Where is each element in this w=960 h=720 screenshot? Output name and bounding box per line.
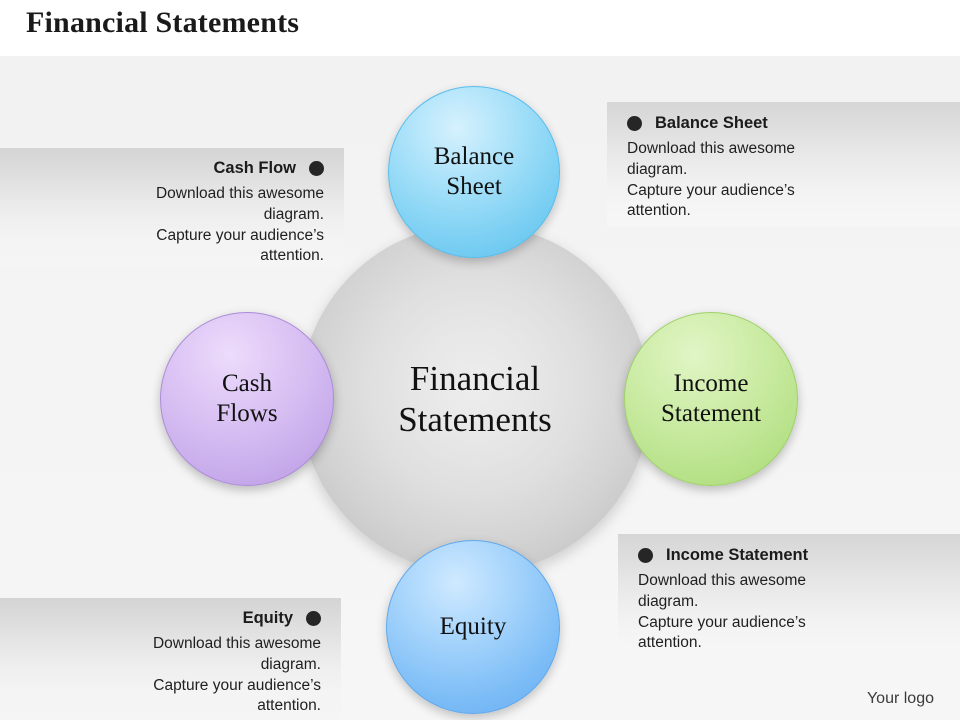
callout-line-4: attention. — [10, 246, 324, 267]
callout-heading-equity: Equity — [10, 609, 321, 627]
callout-title-equity: Equity — [243, 609, 293, 627]
callout-heading-cash-flow: Cash Flow — [10, 159, 324, 177]
callout-title-cash-flow: Cash Flow — [213, 159, 296, 177]
center-node-label-line-2: Statements — [398, 399, 552, 440]
callout-line-1: Download this awesome — [10, 184, 324, 205]
node-income-statement[interactable]: Income Statement — [624, 312, 798, 486]
bullet-dot-icon — [638, 548, 653, 563]
node-balance-sheet[interactable]: Balance Sheet — [388, 86, 560, 258]
callout-line-1: Download this awesome — [638, 571, 950, 592]
callout-line-3: Capture your audience’s — [638, 613, 950, 634]
callout-title-income-statement: Income Statement — [666, 546, 808, 564]
callout-line-2: diagram. — [627, 160, 950, 181]
bullet-dot-icon — [306, 611, 321, 626]
node-label-line-1: Income — [661, 369, 761, 400]
center-node-financial-statements[interactable]: Financial Statements — [300, 224, 650, 574]
callout-heading-income-statement: Income Statement — [638, 546, 950, 564]
node-label-income-statement: Income Statement — [661, 369, 761, 430]
callout-line-3: Capture your audience’s — [10, 226, 324, 247]
callout-line-2: diagram. — [10, 205, 324, 226]
callout-body-balance-sheet: Download this awesome diagram. Capture y… — [627, 139, 950, 222]
node-label-line-1: Equity — [440, 612, 507, 643]
page-title: Financial Statements — [26, 6, 299, 40]
callout-panel-cash-flow[interactable]: Cash Flow Download this awesome diagram.… — [0, 148, 344, 268]
node-cash-flows[interactable]: Cash Flows — [160, 312, 334, 486]
callout-body-equity: Download this awesome diagram. Capture y… — [10, 634, 321, 717]
node-label-line-1: Cash — [216, 369, 277, 400]
bullet-dot-icon — [309, 161, 324, 176]
callout-line-3: Capture your audience’s — [10, 676, 321, 697]
node-label-equity: Equity — [440, 612, 507, 643]
node-equity[interactable]: Equity — [386, 540, 560, 714]
node-label-line-2: Flows — [216, 399, 277, 430]
node-label-line-2: Statement — [661, 399, 761, 430]
logo-placeholder: Your logo — [867, 690, 934, 708]
center-node-label: Financial Statements — [398, 358, 552, 441]
callout-body-cash-flow: Download this awesome diagram. Capture y… — [10, 184, 324, 267]
callout-line-4: attention. — [10, 696, 321, 717]
node-label-cash-flows: Cash Flows — [216, 369, 277, 430]
center-node-label-line-1: Financial — [398, 358, 552, 399]
callout-line-1: Download this awesome — [627, 139, 950, 160]
callout-heading-balance-sheet: Balance Sheet — [627, 114, 950, 132]
node-label-line-1: Balance — [434, 142, 515, 173]
callout-line-3: Capture your audience’s — [627, 181, 950, 202]
slide-canvas: Financial Statements Cash Flow Download … — [0, 0, 960, 720]
node-label-line-2: Sheet — [434, 172, 515, 203]
callout-line-1: Download this awesome — [10, 634, 321, 655]
callout-line-2: diagram. — [10, 655, 321, 676]
node-label-balance-sheet: Balance Sheet — [434, 142, 515, 203]
callout-panel-equity[interactable]: Equity Download this awesome diagram. Ca… — [0, 598, 341, 720]
callout-body-income-statement: Download this awesome diagram. Capture y… — [638, 571, 950, 654]
callout-line-4: attention. — [627, 201, 950, 222]
callout-title-balance-sheet: Balance Sheet — [655, 114, 768, 132]
callout-panel-income-statement[interactable]: Income Statement Download this awesome d… — [618, 534, 960, 660]
bullet-dot-icon — [627, 116, 642, 131]
callout-panel-balance-sheet[interactable]: Balance Sheet Download this awesome diag… — [607, 102, 960, 227]
callout-line-2: diagram. — [638, 592, 950, 613]
callout-line-4: attention. — [638, 633, 950, 654]
